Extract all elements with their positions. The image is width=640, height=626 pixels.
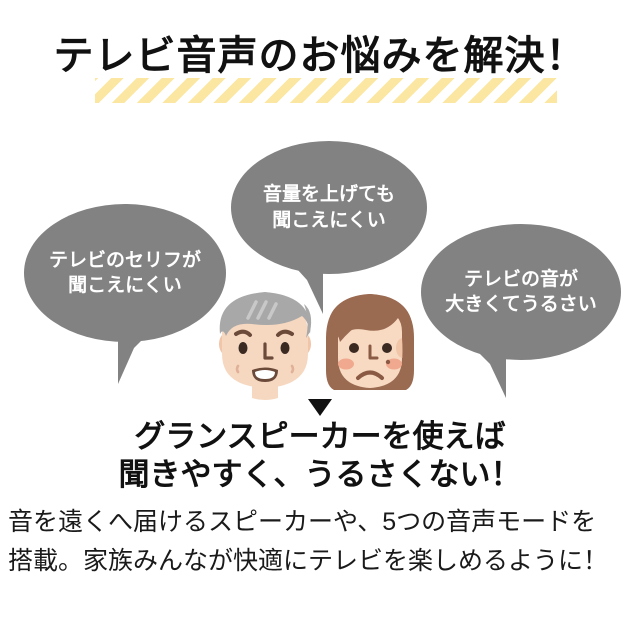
character-illustration-group [210,282,430,400]
speech-bubble-left-tail [118,326,156,384]
speech-bubble-left-text: テレビのセリフが 聞こえにくい [49,248,201,298]
headline-block: テレビ音声のお悩みを解決！ [0,28,640,108]
page-title: テレビ音声のお悩みを解決！ [0,28,640,84]
speech-bubble-right: テレビの音が 大きくてうるさい [421,224,621,360]
woman-face-icon [326,294,414,390]
speech-bubble-center: 音量を上げても 聞こえにくい [231,141,427,274]
elderly-man-face-icon [219,292,311,400]
main-message: グランスピーカーを使えば 聞きやすく、うるさくない！ [0,418,640,494]
speech-bubble-left: テレビのセリフが 聞こえにくい [24,204,226,342]
speech-bubble-right-text: テレビの音が 大きくてうるさい [445,267,596,317]
description-text: 音を遠くへ届けるスピーカーや、5つの音声モードを 搭載。家族みんなが快適にテレビ… [8,503,632,581]
speech-bubble-right-tail [470,344,506,398]
speech-bubble-center-text: 音量を上げても 聞こえにくい [263,182,395,232]
down-triangle-icon [308,399,332,416]
